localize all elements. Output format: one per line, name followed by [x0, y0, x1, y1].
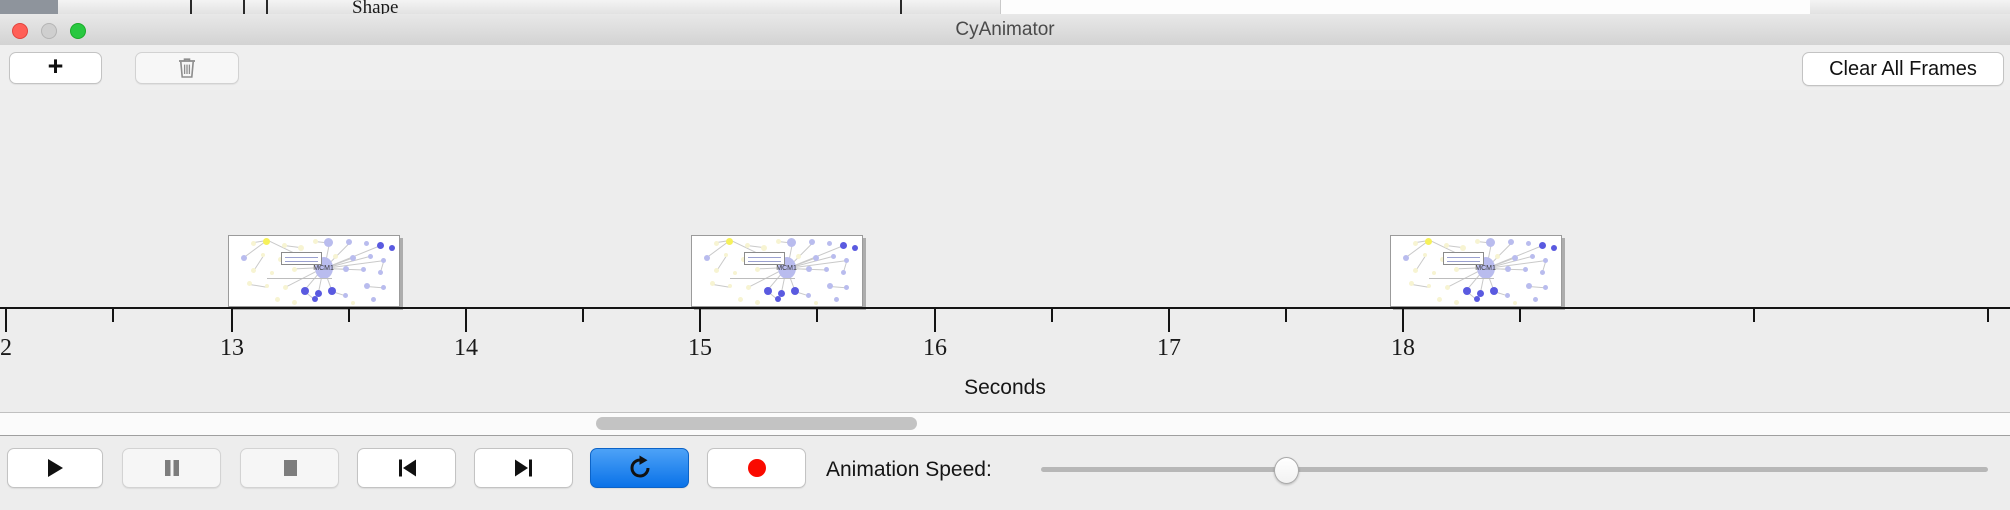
- record-button[interactable]: [707, 448, 806, 488]
- network-node: [361, 267, 366, 272]
- window-title: CyAnimator: [0, 14, 2010, 45]
- network-node: [1427, 284, 1431, 288]
- network-hub-label: MCM1: [776, 265, 797, 272]
- network-node: [827, 283, 833, 289]
- background-tick: [900, 0, 902, 14]
- network-node: [1512, 255, 1518, 261]
- animation-speed-slider-track[interactable]: [1041, 467, 1988, 472]
- network-node: [1505, 293, 1510, 298]
- timeline-tick-label: 2: [0, 335, 12, 362]
- timeline-tick-label: 13: [220, 335, 244, 362]
- frames-track[interactable]: MCM1MCM1MCM1: [0, 90, 2010, 307]
- network-node: [728, 284, 732, 288]
- transport-bar: Animation Speed:: [0, 436, 2010, 510]
- pause-button[interactable]: [122, 448, 221, 488]
- network-node: [726, 238, 733, 245]
- network-node: [283, 285, 288, 290]
- axis-title: Seconds: [0, 376, 2010, 400]
- network-node: [241, 255, 247, 261]
- network-node: [324, 238, 333, 247]
- trash-icon: [176, 56, 198, 80]
- timeline-minor-tick: [1519, 309, 1521, 322]
- network-node: [389, 245, 395, 251]
- network-node: [282, 243, 287, 248]
- network-node: [261, 253, 265, 257]
- network-node: [1551, 245, 1557, 251]
- network-node: [1539, 242, 1546, 249]
- network-node: [1474, 296, 1480, 302]
- background-window-label: Shape: [352, 0, 398, 15]
- background-window-titlebar: [0, 0, 58, 14]
- network-node: [755, 300, 760, 305]
- network-node: [806, 293, 811, 298]
- timeline-tick-label: 18: [1391, 335, 1415, 362]
- network-node: [312, 296, 318, 302]
- timeline-major-tick: [699, 309, 701, 332]
- network-node: [827, 241, 832, 246]
- timeline-major-tick: [1168, 309, 1170, 332]
- network-hub-label: MCM1: [1475, 265, 1496, 272]
- network-node: [844, 285, 849, 290]
- network-node: [738, 297, 743, 302]
- network-node: [1454, 300, 1459, 305]
- pause-icon: [161, 456, 183, 480]
- network-node: [1463, 287, 1471, 295]
- timeline-minor-tick: [112, 309, 114, 322]
- network-node: [1486, 238, 1495, 247]
- network-annotation-text-line: [748, 261, 781, 262]
- background-window-segment: [58, 0, 151, 14]
- network-node: [275, 297, 280, 302]
- network-node: [834, 297, 839, 302]
- network-node: [343, 293, 348, 298]
- network-node: [333, 254, 338, 259]
- network-node: [776, 239, 781, 244]
- network-node: [346, 239, 352, 245]
- network-node: [1413, 268, 1418, 273]
- network-node: [1460, 245, 1466, 251]
- frame-network-preview: MCM1: [692, 236, 862, 306]
- network-caption-line: [1429, 278, 1494, 279]
- network-node: [1505, 266, 1511, 272]
- background-window-segment: [1850, 0, 1891, 14]
- skip-back-icon: [395, 456, 419, 480]
- timeline-frame-thumbnail[interactable]: MCM1: [1390, 235, 1562, 307]
- network-node: [364, 283, 370, 289]
- background-window-strip: Shape: [0, 0, 2010, 15]
- background-window-segment: [240, 0, 301, 14]
- frame-network-preview: MCM1: [1391, 236, 1561, 306]
- timeline-major-tick: [231, 309, 233, 332]
- timeline-minor-tick: [348, 309, 350, 322]
- stop-icon: [279, 456, 301, 480]
- network-node: [1543, 285, 1548, 290]
- title-bar: CyAnimator: [0, 14, 2010, 46]
- network-node: [1526, 241, 1531, 246]
- network-node: [1508, 239, 1514, 245]
- network-node: [301, 287, 309, 295]
- network-node: [298, 245, 304, 251]
- next-button[interactable]: [474, 448, 573, 488]
- clear-all-frames-button[interactable]: Clear All Frames: [1802, 52, 2004, 86]
- timeline-major-tick: [465, 309, 467, 332]
- network-node: [251, 241, 256, 246]
- network-node: [813, 255, 819, 261]
- loop-button[interactable]: [590, 448, 689, 488]
- timeline-minor-tick: [1987, 309, 1989, 322]
- network-node: [368, 254, 373, 259]
- network-annotation-text-line: [285, 261, 318, 262]
- network-annotation-box: [744, 252, 785, 265]
- animation-speed-slider-thumb[interactable]: [1274, 457, 1299, 484]
- network-node: [1475, 239, 1480, 244]
- network-node: [814, 301, 818, 305]
- timeline-tick-label: 16: [923, 335, 947, 362]
- network-caption-line: [730, 278, 795, 279]
- network-caption-line: [267, 278, 332, 279]
- network-node: [1444, 243, 1449, 248]
- network-node: [809, 239, 815, 245]
- background-window-segment: [1890, 0, 2010, 14]
- network-node: [292, 300, 297, 305]
- network-node: [378, 270, 383, 275]
- network-node: [371, 297, 376, 302]
- play-icon: [44, 456, 66, 480]
- background-tick: [243, 0, 245, 14]
- background-window-segment: [150, 0, 201, 14]
- network-node: [350, 255, 356, 261]
- network-node: [1543, 258, 1548, 263]
- network-node: [1526, 283, 1532, 289]
- network-node: [733, 271, 737, 275]
- timeline-frame-thumbnail[interactable]: MCM1: [228, 235, 400, 307]
- network-annotation-text-line: [285, 257, 318, 258]
- network-node: [270, 271, 274, 275]
- timeline-panel: MCM1MCM1MCM1 2131415161718 Seconds: [0, 90, 2010, 413]
- network-node: [761, 245, 767, 251]
- timeline-tick-label: 14: [454, 335, 478, 362]
- timeline-minor-tick: [582, 309, 584, 322]
- network-annotation-text-line: [1447, 261, 1480, 262]
- background-window-segment: [880, 0, 1001, 14]
- network-node: [745, 243, 750, 248]
- background-tick: [190, 0, 192, 14]
- timeline-major-tick: [934, 309, 936, 332]
- play-button[interactable]: [7, 448, 103, 488]
- network-node: [824, 267, 829, 272]
- animation-speed-label: Animation Speed:: [826, 458, 992, 482]
- network-node: [787, 238, 796, 247]
- network-node: [251, 268, 256, 273]
- loop-icon: [627, 455, 653, 481]
- timeline-minor-tick: [1285, 309, 1287, 322]
- frame-network-preview: MCM1: [229, 236, 399, 306]
- network-node: [1437, 297, 1442, 302]
- network-node: [852, 245, 858, 251]
- network-node: [840, 242, 847, 249]
- network-node: [714, 268, 719, 273]
- network-node: [351, 301, 355, 305]
- network-node: [1445, 285, 1450, 290]
- network-annotation-text-line: [748, 257, 781, 258]
- network-node: [1490, 287, 1498, 295]
- stop-button[interactable]: [240, 448, 339, 488]
- skip-forward-icon: [512, 456, 536, 480]
- plus-icon: +: [48, 53, 64, 80]
- network-node: [343, 266, 349, 272]
- network-node: [1495, 254, 1500, 259]
- network-node: [764, 287, 772, 295]
- network-node: [755, 267, 760, 272]
- network-node: [724, 253, 728, 257]
- record-icon: [745, 456, 769, 480]
- timeline-scrollbar[interactable]: [0, 413, 2010, 436]
- network-node: [1533, 297, 1538, 302]
- network-node: [1540, 270, 1545, 275]
- timeline-tick-label: 15: [688, 335, 712, 362]
- network-node: [263, 238, 270, 245]
- network-hub-label: MCM1: [313, 265, 334, 272]
- network-node: [1513, 301, 1517, 305]
- network-node: [292, 267, 297, 272]
- network-node: [775, 296, 781, 302]
- previous-button[interactable]: [357, 448, 456, 488]
- network-node: [265, 284, 269, 288]
- network-node: [313, 239, 318, 244]
- network-annotation-box: [1443, 252, 1484, 265]
- network-node: [1423, 253, 1427, 257]
- network-node: [746, 285, 751, 290]
- timeline-tick-label: 17: [1157, 335, 1181, 362]
- network-node: [1454, 267, 1459, 272]
- timeline-axis: [0, 307, 2010, 309]
- network-node: [1413, 241, 1418, 246]
- add-frame-button[interactable]: +: [9, 52, 102, 84]
- network-node: [364, 241, 369, 246]
- network-node: [381, 258, 386, 263]
- timeline-minor-tick: [1753, 309, 1755, 322]
- network-node: [328, 287, 336, 295]
- cyanimator-window: Shape CyAnimator +: [0, 0, 2010, 510]
- network-node: [806, 266, 812, 272]
- network-node: [831, 254, 836, 259]
- network-node: [1530, 254, 1535, 259]
- network-node: [841, 270, 846, 275]
- timeline-minor-tick: [1051, 309, 1053, 322]
- timeline-scrollbar-thumb[interactable]: [596, 417, 917, 430]
- timeline-major-tick: [1402, 309, 1404, 332]
- network-annotation-box: [281, 252, 322, 265]
- background-window-segment: [200, 0, 241, 14]
- network-node: [381, 285, 386, 290]
- network-node: [844, 258, 849, 263]
- network-node: [1432, 271, 1436, 275]
- network-annotation-text-line: [1447, 257, 1480, 258]
- delete-frame-button[interactable]: [135, 52, 239, 84]
- network-node: [377, 242, 384, 249]
- network-node: [1403, 255, 1409, 261]
- frame-toolbar: + Clear All Frames: [0, 45, 2010, 91]
- timeline-minor-tick: [816, 309, 818, 322]
- network-node: [704, 255, 710, 261]
- network-node: [714, 241, 719, 246]
- background-tick: [266, 0, 268, 14]
- network-node: [1523, 267, 1528, 272]
- network-node: [796, 254, 801, 259]
- network-node: [1425, 238, 1432, 245]
- background-window-segment: [1810, 0, 1851, 14]
- timeline-major-tick: [5, 309, 7, 332]
- network-node: [791, 287, 799, 295]
- timeline-frame-thumbnail[interactable]: MCM1: [691, 235, 863, 307]
